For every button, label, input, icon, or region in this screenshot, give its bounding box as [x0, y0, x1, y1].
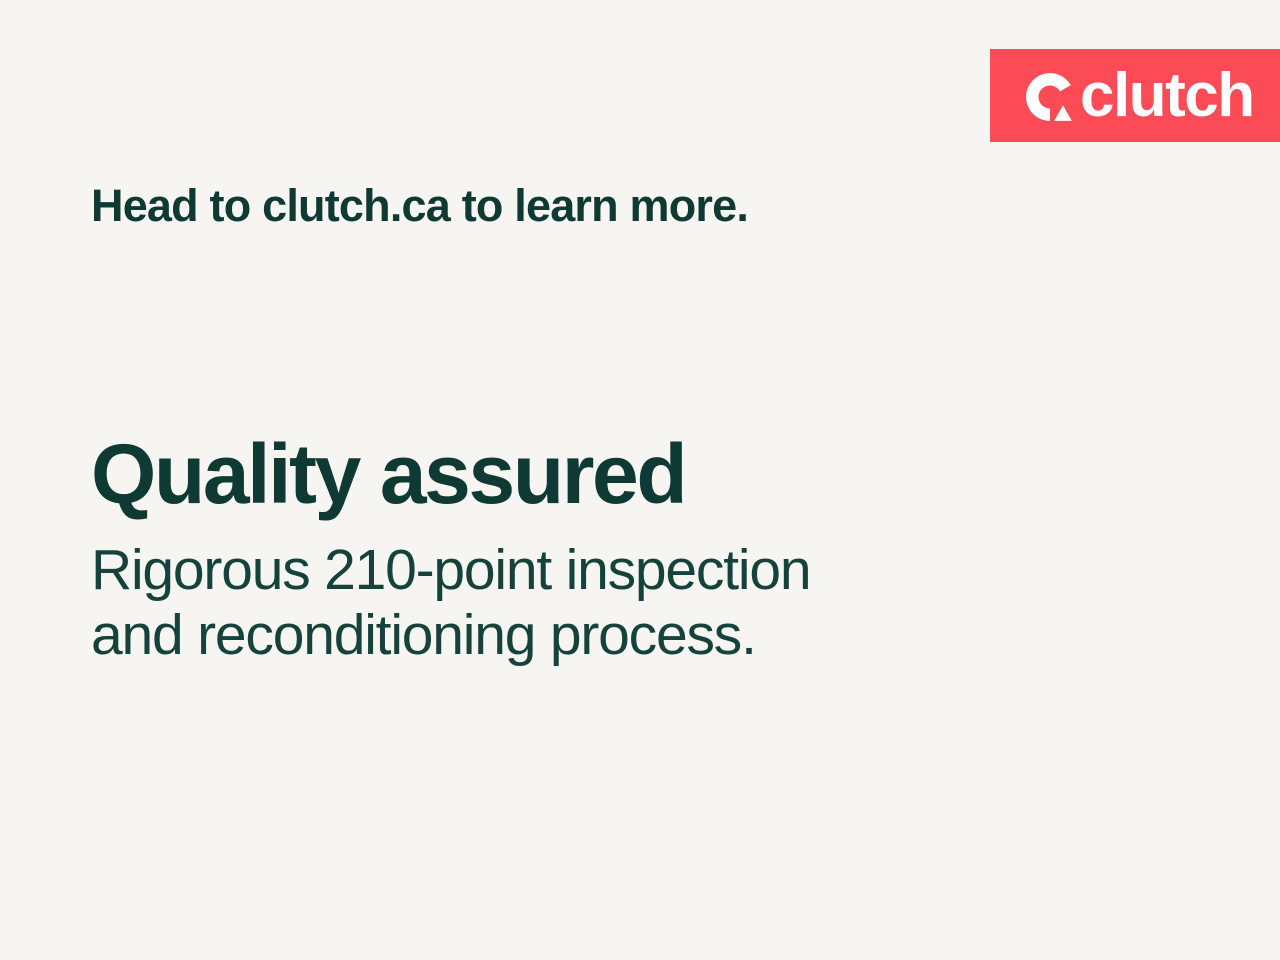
subcopy-line-2: and reconditioning process. — [91, 603, 991, 668]
cta-text: Head to clutch.ca to learn more. — [91, 180, 748, 232]
brand-lockup: clutch — [1024, 65, 1254, 127]
clutch-c-mark-icon — [1024, 71, 1076, 123]
brand-banner: clutch — [990, 49, 1280, 142]
message-block: Quality assured Rigorous 210-point inspe… — [91, 432, 991, 668]
subcopy-line-1: Rigorous 210-point inspection — [91, 538, 991, 603]
headline: Quality assured — [91, 432, 991, 516]
brand-wordmark: clutch — [1080, 65, 1254, 127]
subcopy: Rigorous 210-point inspection and recond… — [91, 538, 991, 668]
promo-slide: clutch Head to clutch.ca to learn more. … — [0, 0, 1280, 960]
